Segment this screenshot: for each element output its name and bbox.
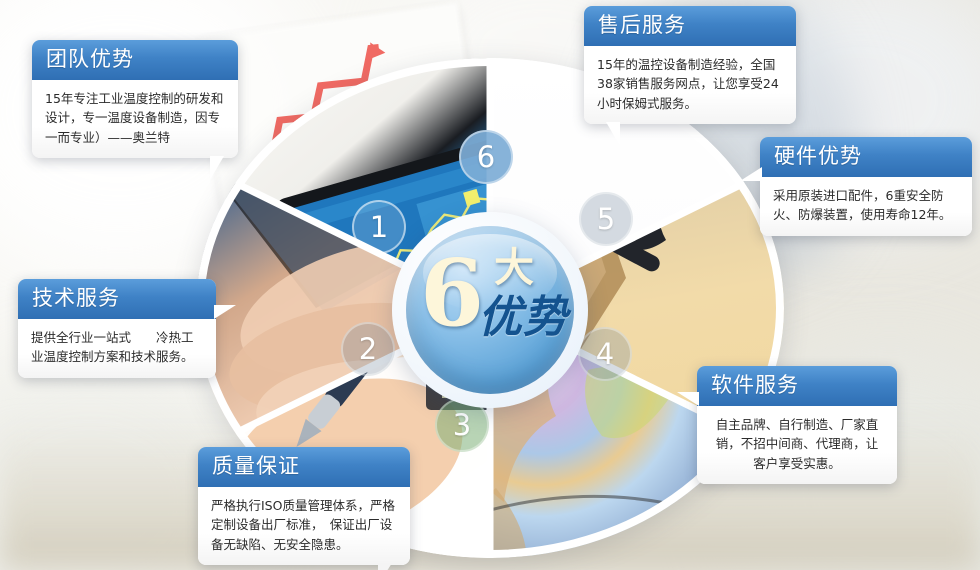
segment-number-3-label: 3 (453, 411, 471, 440)
card-body-after-sales: 15年的温控设备制造经验，全国38家销售服务网点，让您享受24小时保姆式服务。 (584, 46, 796, 124)
segment-number-1[interactable]: 1 (352, 200, 406, 254)
hub-script-text: 优势 (478, 296, 568, 340)
callout-tail (740, 167, 762, 181)
card-title-software: 软件服务 (697, 366, 897, 406)
callout-card-quality[interactable]: 质量保证 严格执行ISO质量管理体系，严格定制设备出厂标准， 保证出厂设备无缺陷… (198, 447, 410, 565)
callout-tail (210, 156, 224, 180)
callout-card-technical[interactable]: 技术服务 提供全行业一站式 冷热工业温度控制方案和技术服务。 (18, 279, 216, 378)
callout-tail (677, 392, 699, 406)
card-title-team: 团队优势 (32, 40, 238, 80)
card-body-hardware: 采用原装进口配件，6重安全防火、防爆装置，使用寿命12年。 (760, 177, 972, 236)
segment-number-5[interactable]: 5 (579, 192, 633, 246)
hub-number: 6 (420, 252, 484, 335)
segment-number-2-label: 2 (359, 335, 377, 364)
callout-card-team[interactable]: 团队优势 15年专注工业温度控制的研发和设计，专一温度设备制造，因专一而专业）—… (32, 40, 238, 158)
card-title-hardware: 硬件优势 (760, 137, 972, 177)
segment-number-4[interactable]: 4 (578, 327, 632, 381)
segment-number-2[interactable]: 2 (341, 322, 395, 376)
callout-card-software[interactable]: 软件服务 自主品牌、自行制造、厂家直销，不招中间商、代理商，让客户享受实惠。 (697, 366, 897, 484)
card-body-quality: 严格执行ISO质量管理体系，严格定制设备出厂标准， 保证出厂设备无缺陷、无安全隐… (198, 487, 410, 565)
callout-card-after-sales[interactable]: 售后服务 15年的温控设备制造经验，全国38家销售服务网点，让您享受24小时保姆… (584, 6, 796, 124)
callout-tail (214, 305, 236, 319)
card-title-technical: 技术服务 (18, 279, 216, 319)
callout-tail (606, 122, 620, 146)
card-body-team: 15年专注工业温度控制的研发和设计，专一温度设备制造，因专一而专业）——奥兰特 (32, 80, 238, 158)
segment-number-6[interactable]: 6 (459, 130, 513, 184)
card-body-software: 自主品牌、自行制造、厂家直销，不招中间商、代理商，让客户享受实惠。 (697, 406, 897, 484)
hub-big-char: 大 (494, 248, 534, 288)
segment-number-6-label: 6 (477, 143, 495, 172)
segment-number-4-label: 4 (596, 340, 614, 369)
card-body-technical: 提供全行业一站式 冷热工业温度控制方案和技术服务。 (18, 319, 216, 378)
segment-number-5-label: 5 (597, 205, 615, 234)
segment-number-1-label: 1 (370, 213, 388, 242)
callout-tail (378, 563, 392, 570)
card-title-after-sales: 售后服务 (584, 6, 796, 46)
center-hub: 6 大 优势 (406, 226, 574, 394)
callout-card-hardware[interactable]: 硬件优势 采用原装进口配件，6重安全防火、防爆装置，使用寿命12年。 (760, 137, 972, 236)
infographic-canvas: INTC (0, 0, 980, 570)
card-title-quality: 质量保证 (198, 447, 410, 487)
